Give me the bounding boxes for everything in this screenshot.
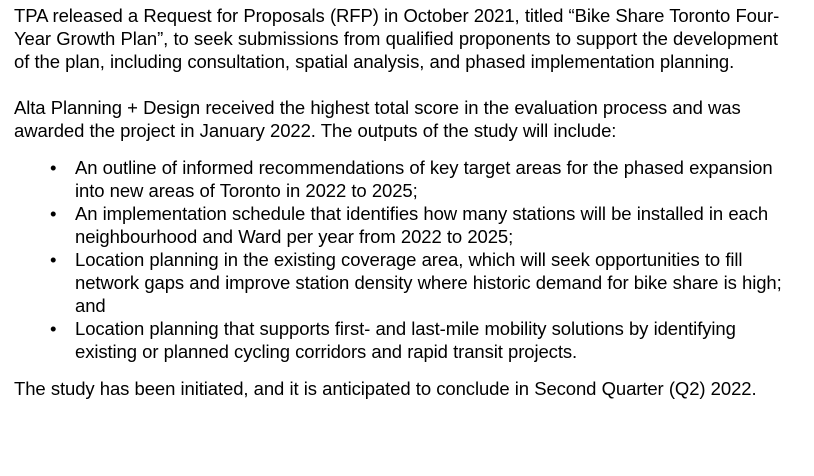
bullet-point-icon: • [50,248,60,271]
list-spacer-top [14,142,792,156]
list-spacer-bottom [14,363,792,377]
paragraph-spacer [14,73,792,96]
document-page: TPA released a Request for Proposals (RF… [0,0,814,476]
list-item-label: Location planning that supports first- a… [75,318,736,362]
list-item: • An implementation schedule that identi… [14,202,792,248]
paragraph-alta-award: Alta Planning + Design received the high… [14,96,792,142]
bullet-point-icon: • [50,317,60,340]
paragraph-rfp-release: TPA released a Request for Proposals (RF… [14,4,792,73]
bullet-point-icon: • [50,156,60,179]
paragraph-study-timeline: The study has been initiated, and it is … [14,377,792,400]
list-item: • Location planning in the existing cove… [14,248,792,317]
bullet-point-icon: • [50,202,60,225]
list-item-label: Location planning in the existing covera… [75,249,782,316]
list-item-label: An outline of informed recommendations o… [75,157,773,201]
list-item: • An outline of informed recommendations… [14,156,792,202]
list-item-label: An implementation schedule that identifi… [75,203,768,247]
study-outputs-list: • An outline of informed recommendations… [14,156,792,363]
list-item: • Location planning that supports first-… [14,317,792,363]
